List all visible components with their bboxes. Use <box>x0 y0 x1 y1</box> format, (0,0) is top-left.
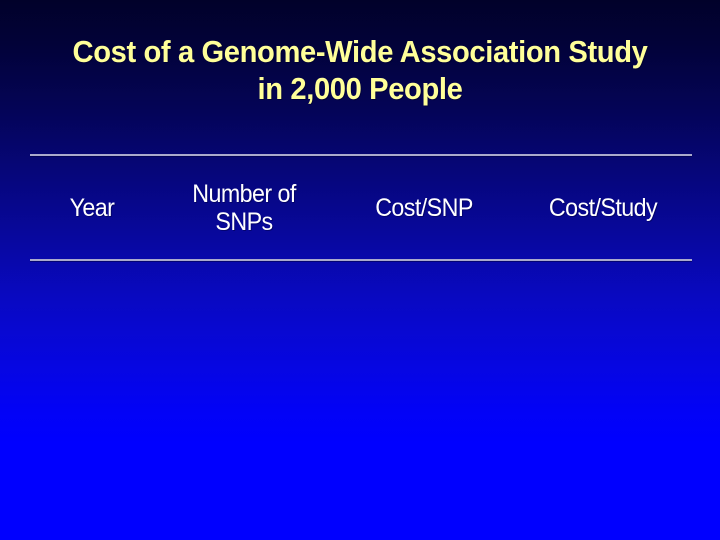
cost-table: Year Number of SNPs Cost/SNP Cost/Study <box>30 154 692 264</box>
column-header-cost-per-study-label: Cost/Study <box>520 194 686 222</box>
column-header-cost-per-snp: Cost/SNP <box>340 194 507 222</box>
column-header-number-of-snps: Number of SNPs <box>160 180 327 236</box>
table-body-empty <box>30 264 692 514</box>
slide-title-line-1: Cost of a Genome-Wide Association Study <box>22 36 699 69</box>
presentation-slide: Cost of a Genome-Wide Association Study … <box>0 0 720 540</box>
slide-title-line-2: in 2,000 People <box>22 73 699 106</box>
slide-title: Cost of a Genome-Wide Association Study … <box>0 36 720 105</box>
column-header-cost-per-snp-label: Cost/SNP <box>340 194 507 222</box>
column-header-year: Year <box>34 194 149 222</box>
column-header-number-of-snps-label-line-2: SNPs <box>160 208 327 236</box>
table-bottom-rule <box>30 259 692 261</box>
column-header-year-label: Year <box>34 194 149 222</box>
table-header-row: Year Number of SNPs Cost/SNP Cost/Study <box>30 156 692 259</box>
column-header-cost-per-study: Cost/Study <box>520 194 686 222</box>
column-header-number-of-snps-label-line-1: Number of <box>160 180 327 208</box>
